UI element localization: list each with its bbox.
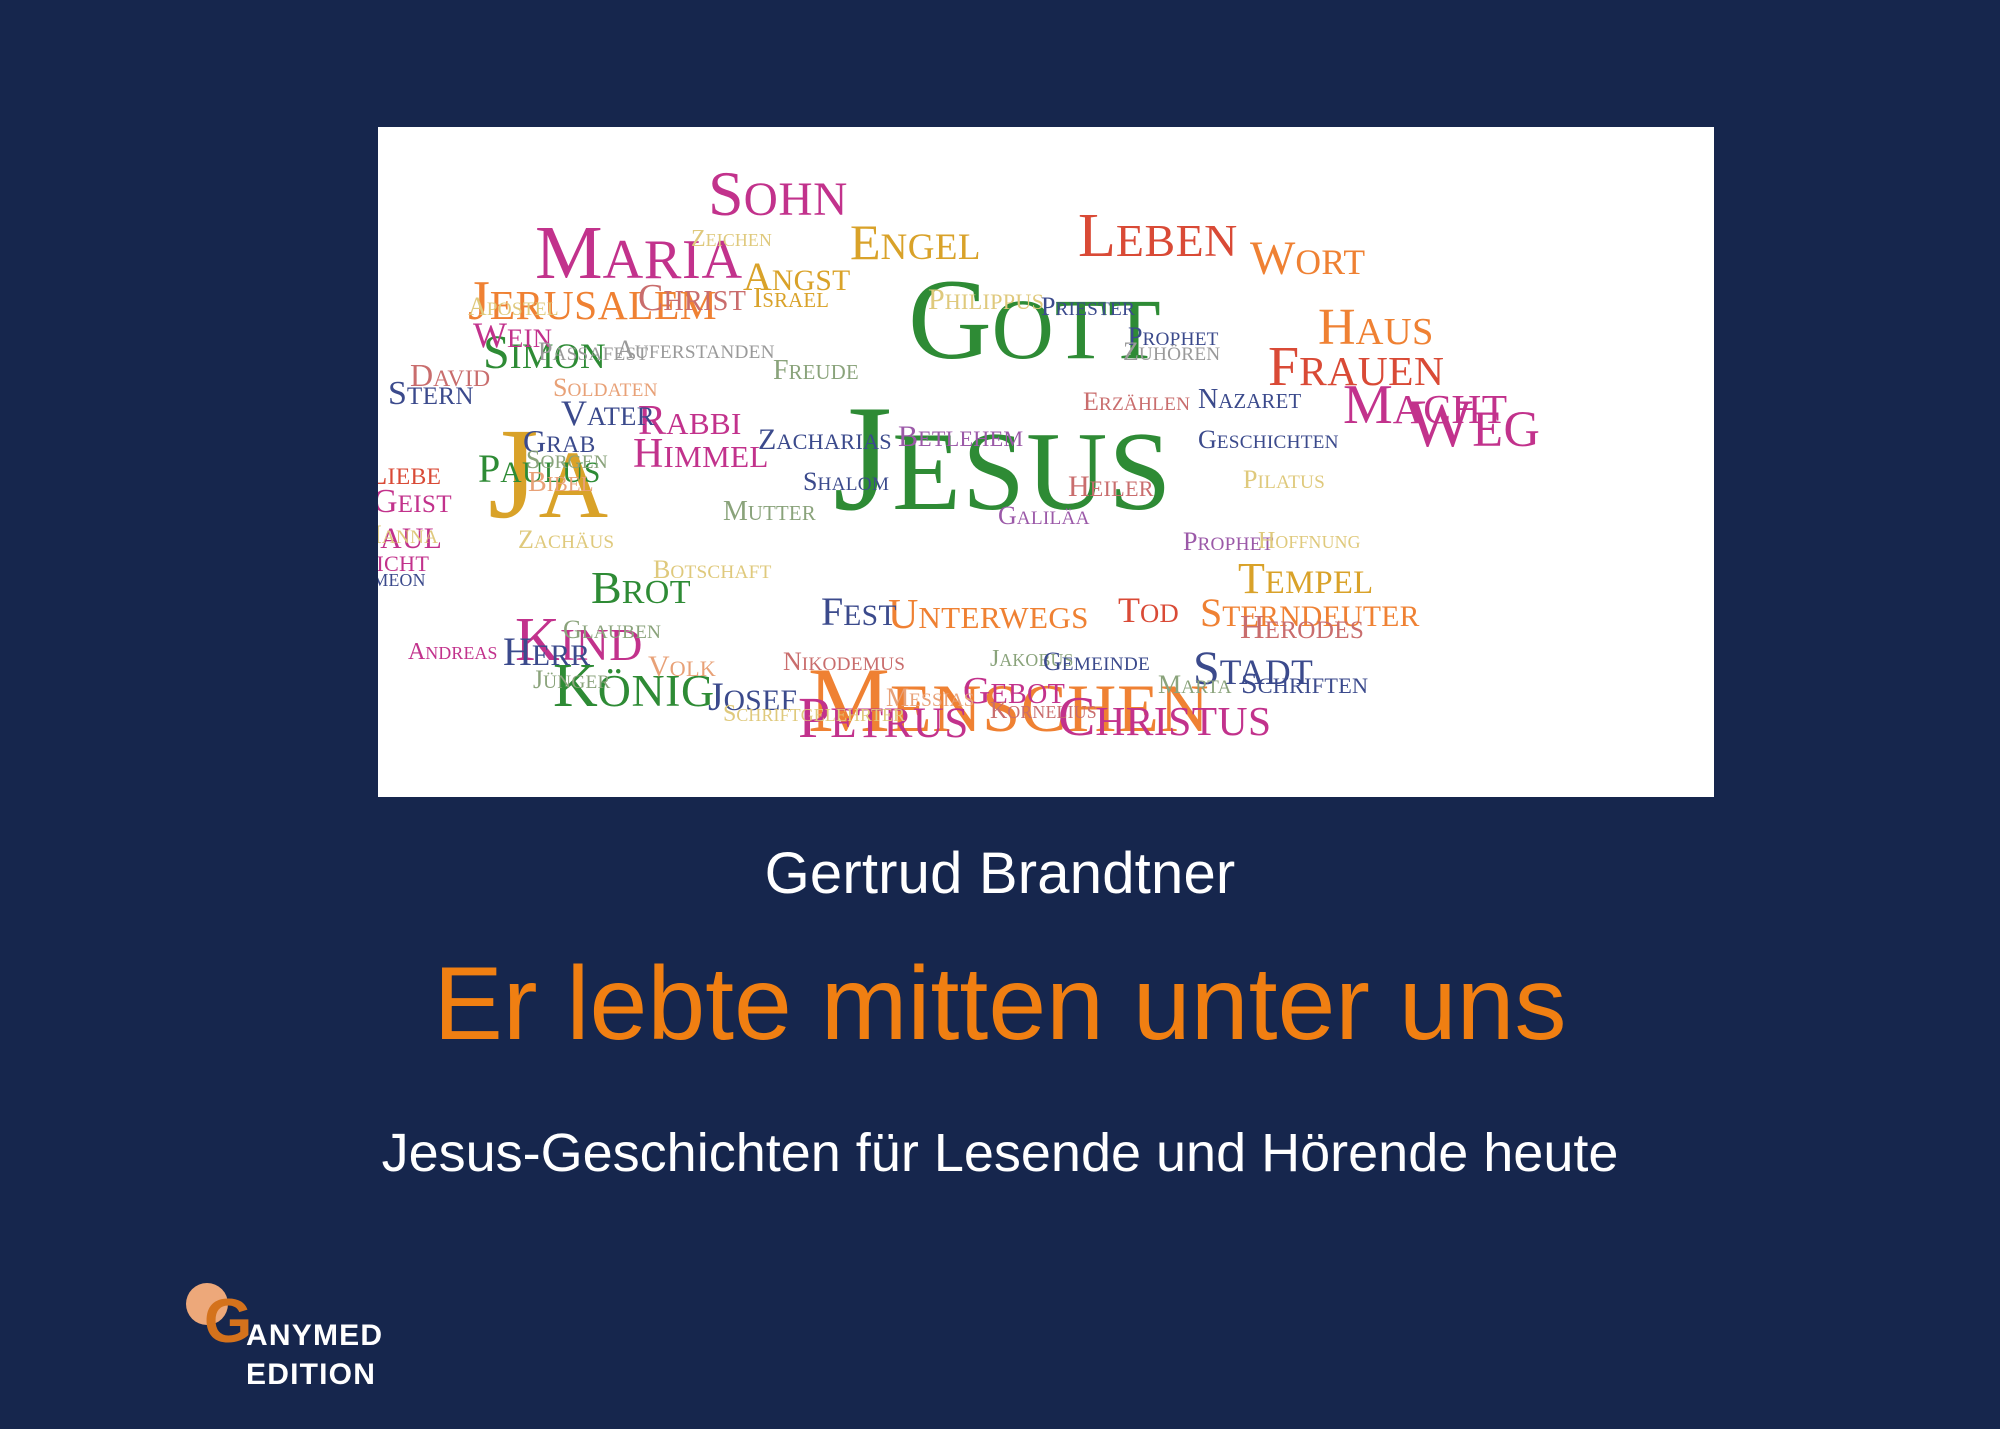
word-cloud-item: WORT [1250,235,1366,283]
word-cloud-panel: JESUSGOTTMENSCHENMARIAJASOHNLEBENJERUSAL… [378,127,1714,797]
word-rest-chars: OHN [744,174,848,226]
word-rest-chars: IEBE [388,464,442,490]
word-rest-chars: CHRIFTEN [1258,673,1369,698]
word-cloud-item: LIEBE [378,457,441,490]
word-rest-chars: HRISTUS [1095,698,1271,744]
word-lead-char: G [1198,425,1217,454]
word-lead-char: A [616,335,635,364]
word-rest-chars: ATER [587,401,655,431]
word-lead-char: E [1083,387,1099,416]
word-lead-char: S [553,373,567,402]
word-rest-chars: ALILÄA [1017,508,1090,529]
word-rest-chars: UTTER [748,503,816,525]
publisher-logo: G ANYMED EDITION [186,1283,416,1393]
word-cloud-item: GEIST [378,485,452,519]
word-cloud-item: BOTSCHAFT [653,557,772,583]
word-cloud-item: LEBEN [1078,205,1238,267]
word-cloud-item: MACHT [1343,377,1508,433]
word-lead-char: B [528,467,547,498]
word-rest-chars: ACHARIAS [776,429,892,454]
word-lead-char: P [1183,527,1197,556]
word-lead-char: Z [1123,337,1139,366]
word-cloud-item: FEST [821,592,897,632]
word-rest-chars: EICHEN [706,230,772,250]
word-cloud-item: SOHN [708,162,848,226]
word-cloud-item: KORNELIUS [990,699,1097,723]
word-lead-char: H [1240,609,1265,646]
word-lead-char: S [803,467,817,496]
word-rest-chars: IBEL [547,474,594,496]
word-cloud-item: TEMPEL [1238,557,1374,601]
word-lead-char: M [1343,374,1393,436]
word-cloud-item: BIBEL [528,469,594,497]
word-rest-chars: RIESTER [1055,299,1135,320]
word-rest-chars: ORNELIUS [1007,702,1096,722]
word-lead-char: T [1238,554,1265,603]
word-rest-chars: HRIST [663,286,746,317]
word-lead-char: P [478,446,500,491]
word-lead-char: J [833,374,892,542]
word-cloud-item: ENGEL [850,217,981,267]
word-lead-char: G [998,501,1017,530]
word-rest-chars: OFFNUNG [1275,532,1360,552]
word-lead-char: G [563,615,582,644]
word-cloud-item: ZACHÄUS [518,527,614,553]
word-rest-chars: UHÖREN [1139,344,1221,365]
word-rest-chars: AUS [1356,311,1434,353]
word-rest-chars: OLK [670,656,716,681]
word-lead-char: Z [691,226,706,252]
word-lead-char: N [1198,384,1218,415]
word-rest-chars: OLDATEN [567,380,657,401]
word-rest-chars: IMMEL [663,439,768,474]
word-rest-chars: RZÄHLEN [1099,394,1190,415]
word-cloud-item: VOLK [648,652,716,682]
word-lead-char: L [378,455,388,491]
word-rest-chars: ESCHICHTEN [1217,432,1339,453]
word-rest-chars: POSTEL [487,299,559,320]
word-lead-char: J [533,665,543,694]
word-rest-chars: IMEON [378,570,426,590]
word-lead-char: S [723,701,736,727]
word-rest-chars: NGEL [881,227,981,268]
word-cloud-item: HAUS [1318,302,1434,354]
word-rest-chars: ANNA [382,527,439,548]
word-lead-char: T [1118,590,1140,630]
word-rest-chars: EIST [398,491,452,518]
word-lead-char: H [1068,470,1090,503]
word-rest-chars: HALOM [817,474,889,495]
publisher-name-line1: ANYMED [246,1321,383,1351]
author-name: Gertrud Brandtner [0,840,2000,907]
word-lead-char: N [783,647,802,676]
word-lead-char: H [1258,528,1275,554]
word-cloud-item: NIKODEMUS [783,649,905,675]
word-lead-char: F [773,355,789,386]
word-lead-char: E [850,214,881,270]
word-lead-char: K [990,698,1007,724]
word-lead-char: G [908,256,992,384]
word-lead-char: P [928,283,945,316]
word-rest-chars: ACHT [1393,386,1508,432]
word-lead-char: S [388,375,407,412]
word-lead-char: F [821,589,843,634]
word-cloud-item: AUFERSTANDEN [616,337,775,363]
word-cloud-item: DAVID [410,359,490,392]
word-cloud-item: GALILÄA [998,503,1090,529]
word-rest-chars: ETLEHEM [918,426,1023,451]
word-rest-chars: EBEN [1116,215,1238,266]
word-cloud-item: UNTERWEGS [888,594,1089,636]
word-lead-char: W [1250,232,1295,285]
word-lead-char: H [1318,299,1356,356]
logo-letter-g: G [204,1291,252,1353]
word-cloud-item: ANDREAS [408,640,498,664]
word-lead-char: M [723,496,748,527]
word-rest-chars: CHRIFTGELEHRTER [736,705,905,725]
word-lead-char: G [1043,647,1062,676]
word-rest-chars: EILER [1090,476,1154,501]
word-cloud-item: ZUHÖREN [1123,339,1220,365]
word-cloud-item: NAZARET [1198,386,1301,414]
word-rest-chars: EMEINDE [1062,654,1150,675]
word-lead-char: C [638,277,663,319]
word-rest-chars: ÜNGER [543,672,610,693]
word-cloud-item: ERZÄHLEN [1083,389,1190,415]
word-rest-chars: ACHÄUS [534,532,614,553]
word-rest-chars: SRAEL [762,290,829,312]
word-lead-char: S [708,158,744,229]
word-cloud-item: SHALOM [803,469,889,495]
word-lead-char: L [1078,202,1116,270]
word-rest-chars: NDREAS [425,643,497,663]
book-title: Er lebte mitten unter uns [0,945,2000,1064]
word-lead-char: P [1243,465,1257,494]
word-rest-chars: ILATUS [1257,472,1325,493]
word-rest-chars: LAUBEN [582,622,661,643]
word-rest-chars: EMPEL [1265,565,1374,601]
word-lead-char: B [653,555,670,584]
word-lead-char: A [468,292,487,321]
word-cloud-item: ZACHARIAS [758,425,892,455]
word-cloud-item: GLAUBEN [563,617,661,643]
word-cloud-item: SCHRIFTGELEHRTER [723,702,905,726]
word-lead-char: S [1241,667,1258,700]
word-cloud-item: HANNA [378,522,438,548]
word-cloud-item: HEILER [1068,472,1154,502]
word-lead-char: Z [758,423,776,456]
word-cloud-item: PILATUS [1243,467,1325,493]
word-rest-chars: OTSCHAFT [670,562,771,583]
word-lead-char: I [753,283,762,314]
word-rest-chars: ESSIAS [909,690,975,711]
word-rest-chars: AVID [433,366,490,392]
word-rest-chars: ABBI [666,406,742,441]
word-cloud-item: APOSTEL [468,294,559,320]
book-subtitle: Jesus-Geschichten für Lesende und Hörend… [0,1122,2000,1184]
publisher-name-line2: EDITION [246,1360,376,1390]
word-cloud-item: BETLEHEM [898,422,1023,452]
word-lead-char: J [990,646,999,672]
word-lead-char: B [898,420,918,453]
word-rest-chars: REUDE [789,362,859,384]
word-lead-char: W [473,315,507,355]
word-cloud-item: JÜNGER [533,667,611,693]
word-lead-char: P [538,337,552,366]
word-lead-char: H [503,629,532,674]
word-lead-char: Z [518,525,534,554]
word-cloud-item: TOD [1118,592,1179,628]
word-cloud-item: FREUDE [773,357,859,385]
word-cloud-item: MUTTER [723,498,816,526]
word-rest-chars: ORT [1295,242,1365,282]
word-cloud-item: SOLDATEN [553,375,658,401]
book-cover: JESUSGOTTMENSCHENMARIAJASOHNLEBENJERUSAL… [0,0,2000,1429]
word-lead-char: M [1158,670,1181,699]
word-cloud-item: GEMEINDE [1043,649,1150,675]
word-cloud-item: HOFFNUNG [1258,529,1361,553]
word-lead-char: A [408,639,425,665]
word-cloud-item: SCHRIFTEN [1241,669,1368,699]
word-rest-chars: HILIPPUS [945,289,1045,314]
word-cloud-item: MARTA [1158,672,1232,698]
word-rest-chars: ERODES [1265,617,1365,644]
word-cloud-item: GESCHICHTEN [1198,427,1339,453]
word-cloud-item: HERODES [1240,611,1364,645]
word-lead-char: V [648,650,670,683]
word-lead-char: D [410,357,433,393]
word-rest-chars: AZARET [1218,391,1301,413]
word-rest-chars: UFERSTANDEN [635,342,775,363]
word-lead-char: P [1041,292,1055,321]
word-rest-chars: ARTA [1181,677,1232,698]
word-cloud-item: ZEICHEN [691,227,772,251]
word-cloud-item: SIMEON [378,567,426,591]
word-rest-chars: EST [843,600,897,632]
word-cloud-item: CHRIST [638,279,746,317]
word-rest-chars: IKODEMUS [802,654,905,675]
word-cloud-item: PRIESTER [1041,294,1135,320]
word-cloud-item: ISRAEL [753,285,829,313]
word-rest-chars: OD [1140,598,1179,628]
word-cloud-item: PHILIPPUS [928,285,1044,315]
word-lead-char: S [1200,590,1222,635]
word-lead-char: B [591,562,622,613]
word-rest-chars: NTERWEGS [918,600,1088,635]
